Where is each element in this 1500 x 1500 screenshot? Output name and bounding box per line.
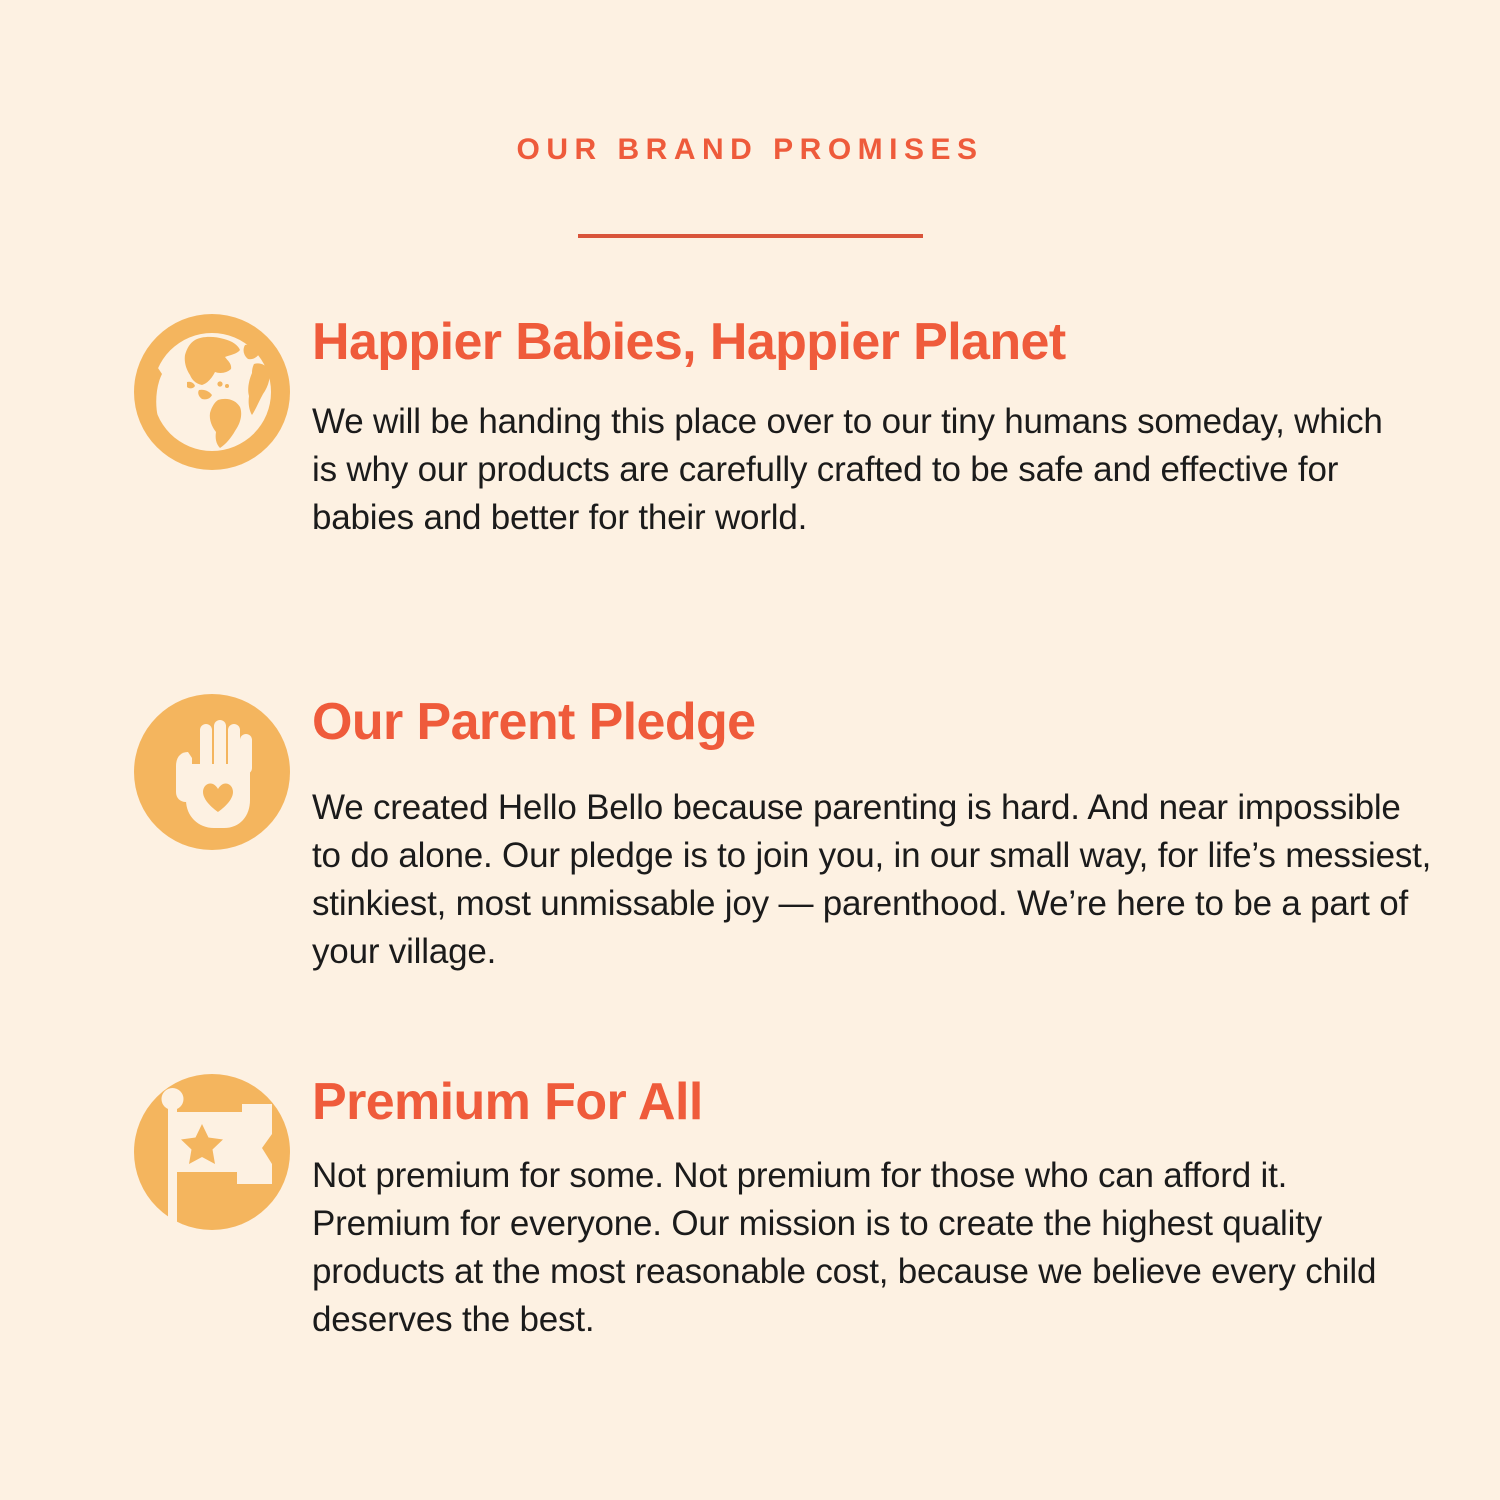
hand-heart-icon xyxy=(132,692,292,852)
promise-title: Premium For All xyxy=(312,1072,1402,1132)
promise-content-2: Our Parent Pledge We created Hello Bello… xyxy=(312,692,1432,976)
flag-star-icon xyxy=(132,1072,292,1232)
promise-description: Not premium for some. Not premium for th… xyxy=(312,1152,1402,1344)
promise-title: Our Parent Pledge xyxy=(312,692,1432,752)
promise-title: Happier Babies, Happier Planet xyxy=(312,312,1402,372)
promise-content-3: Premium For All Not premium for some. No… xyxy=(312,1072,1402,1344)
promise-description: We will be handing this place over to ou… xyxy=(312,398,1402,542)
page-eyebrow-title: OUR BRAND PROMISES xyxy=(0,132,1500,168)
promise-content-1: Happier Babies, Happier Planet We will b… xyxy=(312,312,1402,542)
promise-description: We created Hello Bello because parenting… xyxy=(312,784,1432,976)
globe-icon xyxy=(132,312,292,472)
brand-promises-page: OUR BRAND PROMISES xyxy=(0,0,1500,1500)
header-divider xyxy=(578,234,923,238)
